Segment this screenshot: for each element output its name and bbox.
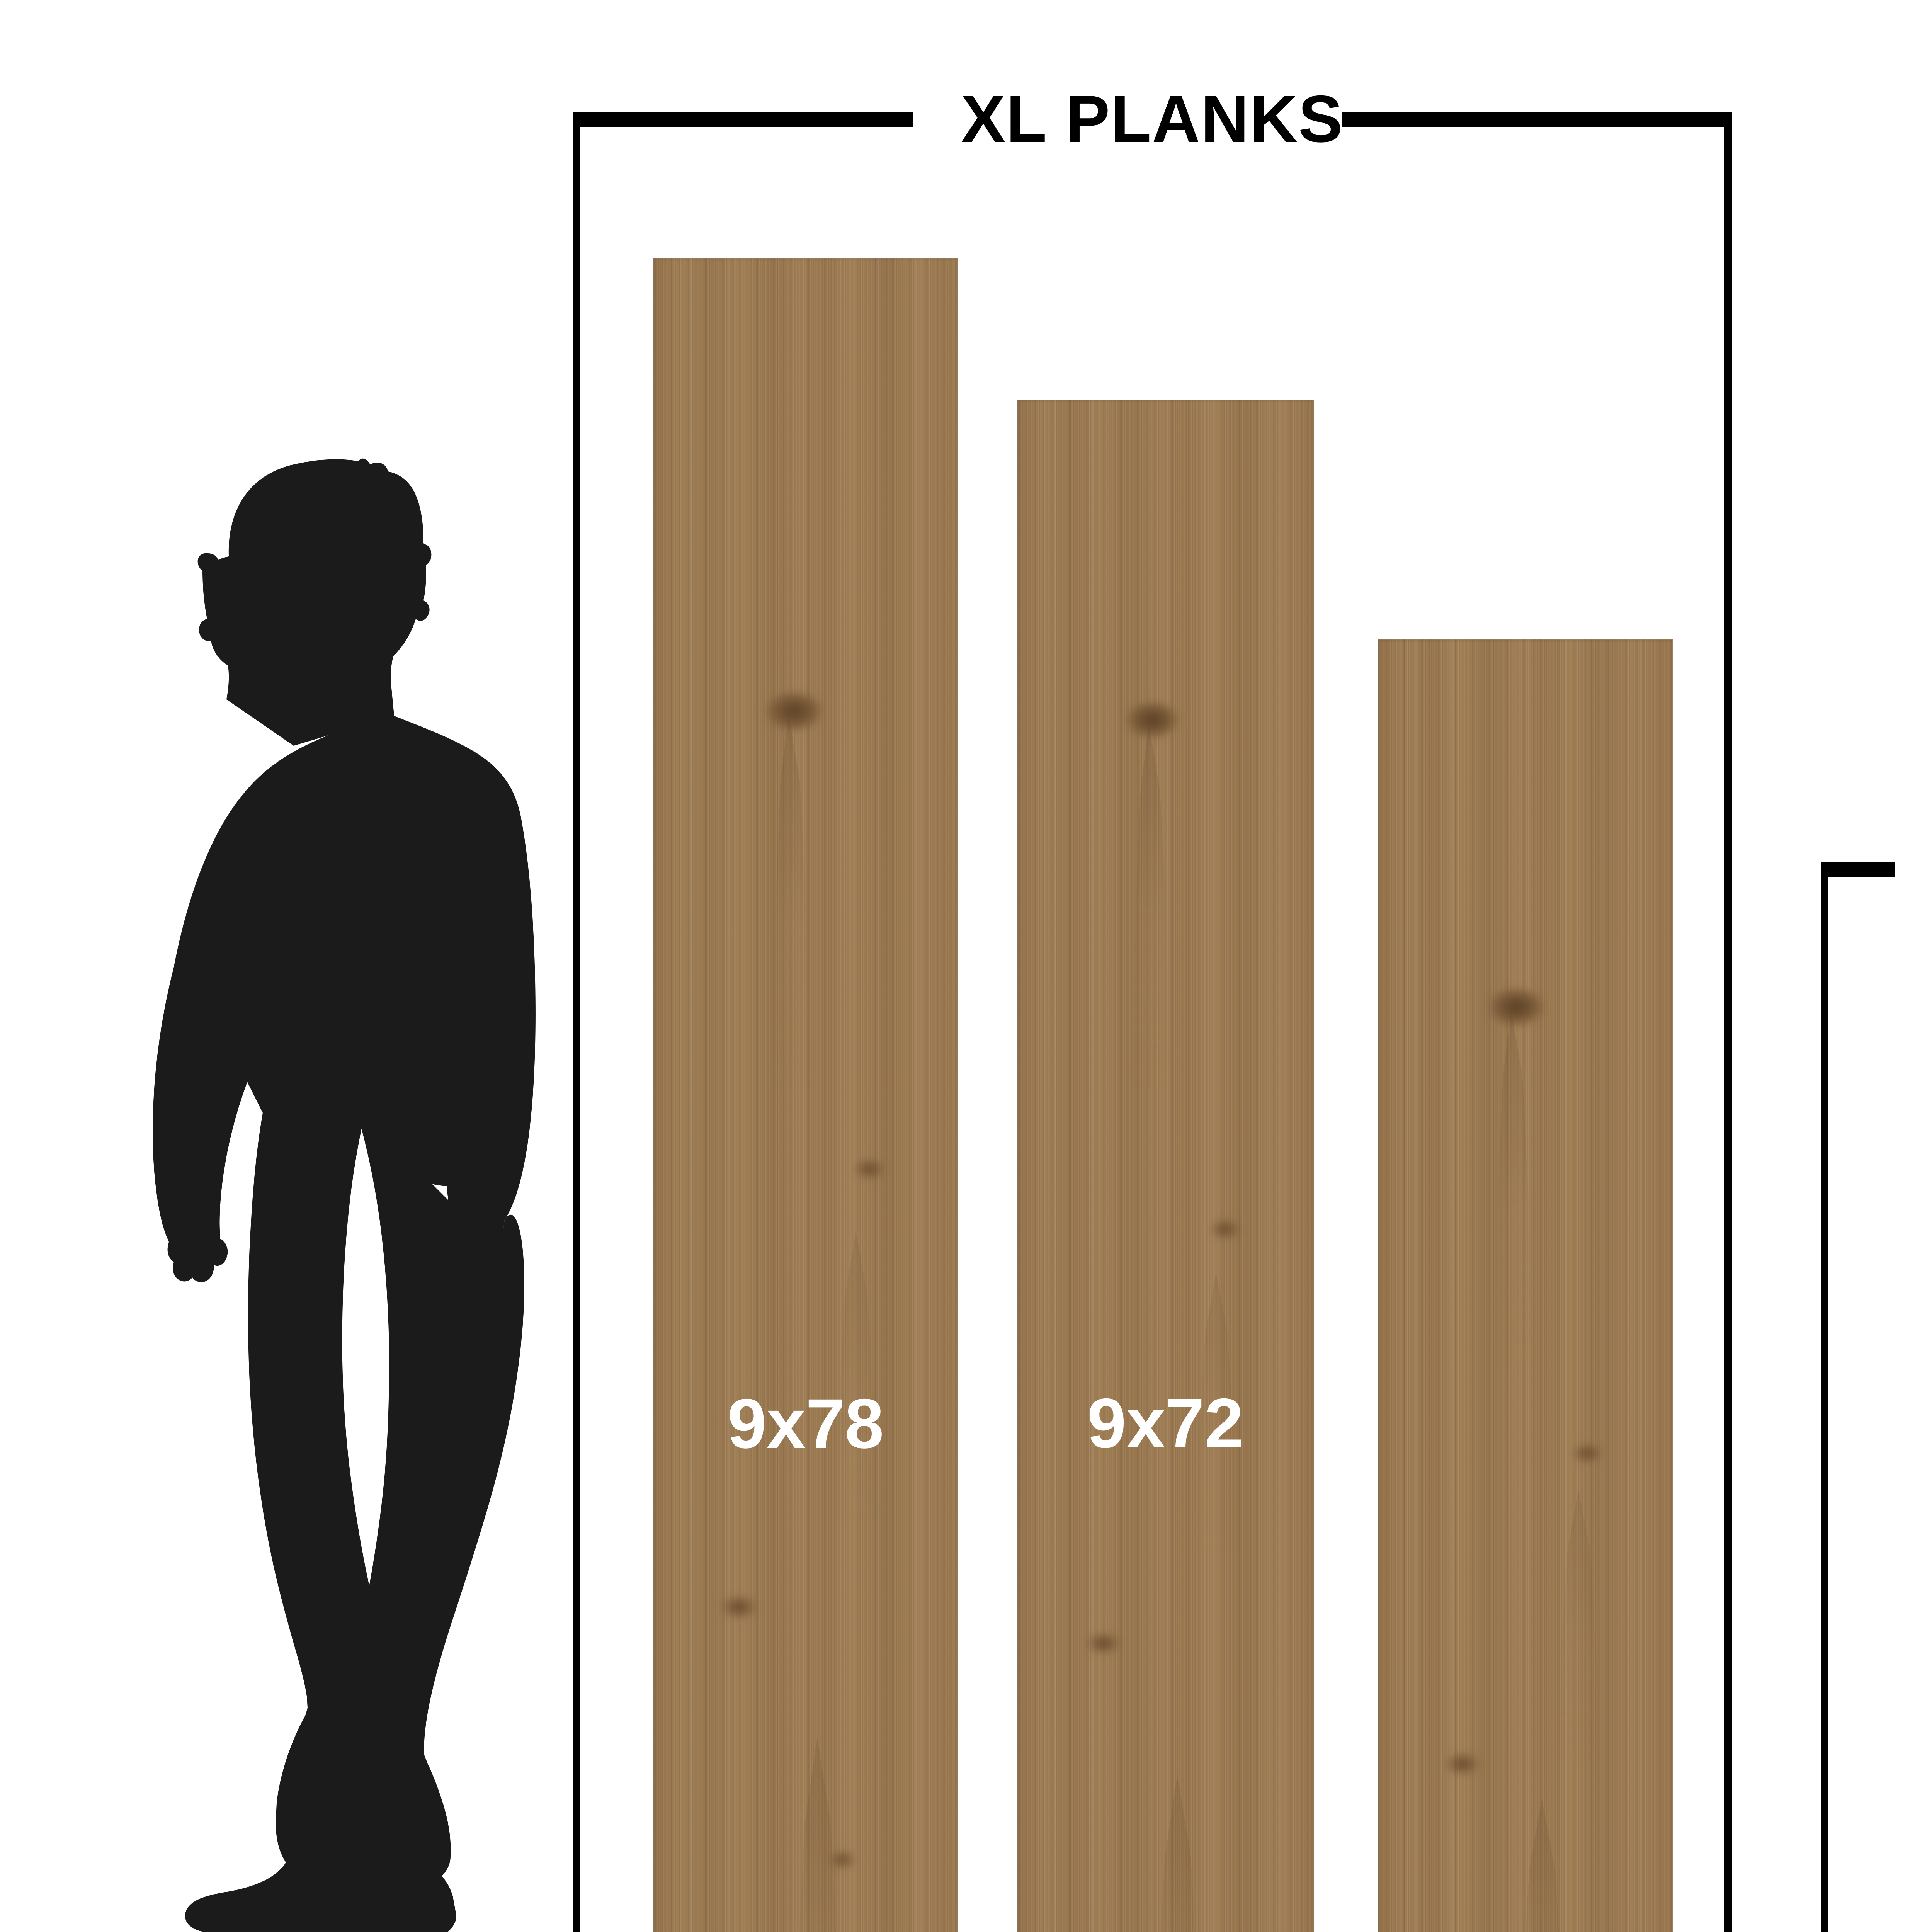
plank-9x72[interactable]: 9x72: [1017, 400, 1314, 1932]
man-silhouette-icon: [46, 429, 572, 1932]
plank-edge-shading: [1378, 639, 1673, 1932]
infographic-canvas: XL PLANKS STANDARD SIZE 9x78: [0, 0, 1932, 1932]
plank-9x60[interactable]: 9x60: [1378, 639, 1673, 1932]
plank-edge-shading: [1017, 400, 1314, 1932]
plank-9x60-label: 9x60: [1378, 1926, 1673, 1932]
xl-bracket-left-leg: [573, 112, 580, 1932]
xl-planks-label: XL PLANKS: [913, 86, 1392, 152]
standard-size-bracket: [1821, 862, 1932, 1932]
plank-edge-shading: [653, 258, 958, 1932]
plank-9x72-label: 9x72: [1017, 1388, 1314, 1458]
plank-9x78[interactable]: 9x78: [653, 258, 958, 1932]
plank-9x78-label: 9x78: [653, 1388, 958, 1459]
xl-bracket-top-right-bar: [1342, 112, 1732, 127]
standard-bracket-left-leg: [1821, 862, 1828, 1932]
xl-bracket-top-left-bar: [573, 112, 913, 127]
standard-size-label: STANDARD SIZE: [1882, 838, 1932, 893]
xl-bracket-right-leg: [1724, 112, 1732, 1932]
